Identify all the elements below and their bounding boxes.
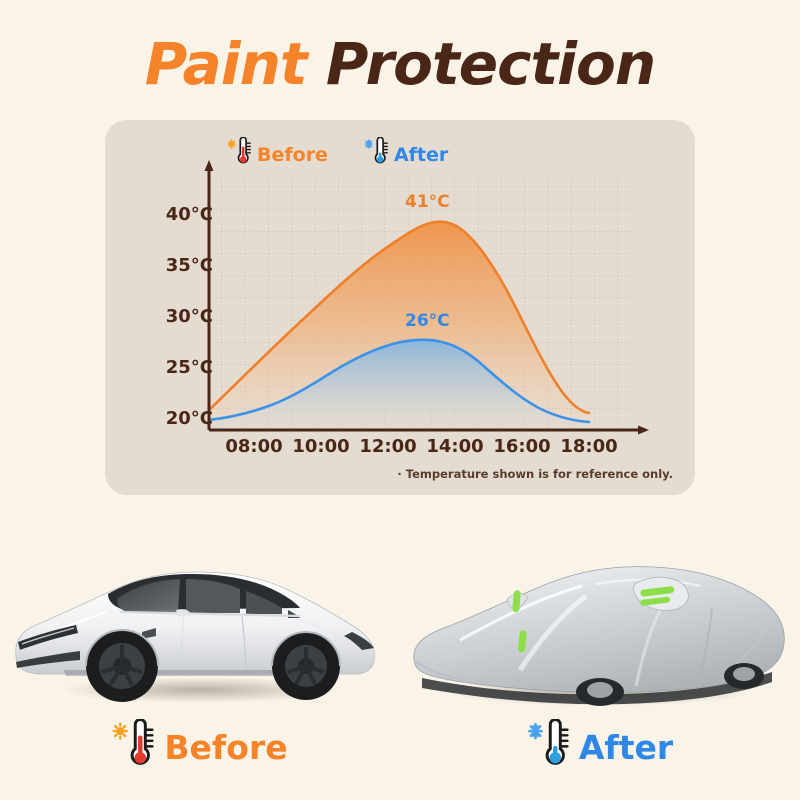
temperature-chart: 41°C 26°C 40°C 35°C 30°C 25°C 20°C 08:00…	[105, 120, 695, 495]
before-peak-label: 41°C	[405, 192, 450, 212]
x-tick-1000: 10:00	[289, 436, 353, 457]
comparison-label-after-text: After	[579, 728, 673, 767]
comparison-label-after: After	[400, 712, 800, 782]
y-tick-25: 25°C	[143, 357, 213, 378]
chart-card: Before	[105, 120, 695, 495]
y-tick-40: 40°C	[143, 204, 213, 225]
after-peak-label: 26°C	[405, 311, 450, 331]
chart-footnote: · Temperature shown is for reference onl…	[397, 467, 673, 481]
car-uncovered-image	[0, 520, 400, 710]
comparison-label-before-text: Before	[164, 728, 287, 767]
y-axis-arrow	[205, 160, 214, 171]
title-main-word: Protection	[326, 30, 655, 98]
covered-rear-wheel	[724, 663, 764, 689]
comparison-labels: Before	[0, 712, 800, 782]
comparison-images	[0, 520, 800, 710]
x-tick-0800: 08:00	[222, 436, 286, 457]
x-tick-1800: 18:00	[557, 436, 621, 457]
covered-front-wheel	[576, 678, 624, 706]
x-tick-1600: 16:00	[490, 436, 554, 457]
thermometer-sun-icon	[112, 719, 154, 776]
page-title: Paint Protection	[0, 30, 800, 98]
thermometer-snowflake-icon	[527, 719, 569, 776]
comparison-label-before: Before	[0, 712, 400, 782]
y-tick-35: 35°C	[143, 255, 213, 276]
y-tick-20: 20°C	[143, 408, 213, 429]
x-axis-arrow	[638, 426, 649, 435]
title-accent-word: Paint	[145, 30, 307, 98]
y-tick-30: 30°C	[143, 306, 213, 327]
x-tick-1400: 14:00	[423, 436, 487, 457]
x-tick-1200: 12:00	[356, 436, 420, 457]
car-covered-image	[400, 520, 800, 710]
